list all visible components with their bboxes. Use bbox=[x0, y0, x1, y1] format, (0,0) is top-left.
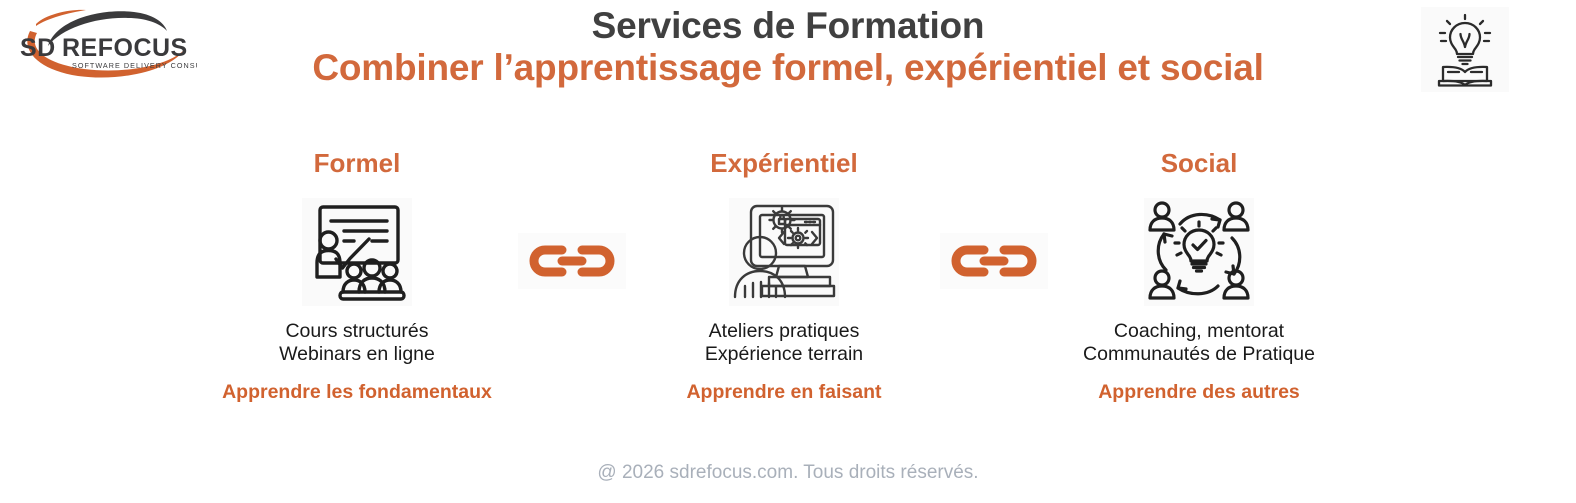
column-description-social: Coaching, mentorat Communautés de Pratiq… bbox=[1049, 320, 1349, 366]
column-experientiel: Expérientiel bbox=[634, 140, 934, 403]
column-heading-formel: Formel bbox=[207, 140, 507, 176]
page-header: Services de Formation Combiner l’apprent… bbox=[0, 0, 1576, 88]
column-description-line-2: Webinars en ligne bbox=[207, 343, 507, 366]
column-description-formel: Cours structurés Webinars en ligne bbox=[207, 320, 507, 366]
lightbulb-over-book-icon bbox=[1421, 7, 1509, 92]
page-subtitle: Combiner l’apprentissage formel, expérie… bbox=[0, 47, 1576, 88]
column-heading-social: Social bbox=[1049, 140, 1349, 176]
column-formel: Formel bbox=[207, 140, 507, 403]
column-heading-experientiel: Expérientiel bbox=[634, 140, 934, 176]
page-title: Services de Formation bbox=[0, 6, 1576, 46]
column-tagline-formel: Apprendre les fondamentaux bbox=[207, 382, 507, 403]
column-description-line-2: Expérience terrain bbox=[634, 343, 934, 366]
footer-copyright: @ 2026 sdrefocus.com. Tous droits réserv… bbox=[0, 462, 1576, 484]
column-description-line-2: Communautés de Pratique bbox=[1049, 343, 1349, 366]
column-tagline-experientiel: Apprendre en faisant bbox=[634, 382, 934, 403]
training-services-columns: Formel bbox=[0, 140, 1576, 420]
column-description-line-1: Coaching, mentorat bbox=[1049, 320, 1349, 343]
person-computer-gears-icon bbox=[729, 198, 839, 306]
people-network-lightbulb-icon bbox=[1144, 198, 1254, 306]
column-tagline-social: Apprendre des autres bbox=[1049, 382, 1349, 403]
column-description-experientiel: Ateliers pratiques Expérience terrain bbox=[634, 320, 934, 366]
presenter-whiteboard-audience-icon bbox=[302, 198, 412, 306]
column-description-line-1: Cours structurés bbox=[207, 320, 507, 343]
column-social: Social bbox=[1049, 140, 1349, 403]
column-description-line-1: Ateliers pratiques bbox=[634, 320, 934, 343]
chain-link-icon-2 bbox=[940, 233, 1048, 289]
chain-link-icon-1 bbox=[518, 233, 626, 289]
